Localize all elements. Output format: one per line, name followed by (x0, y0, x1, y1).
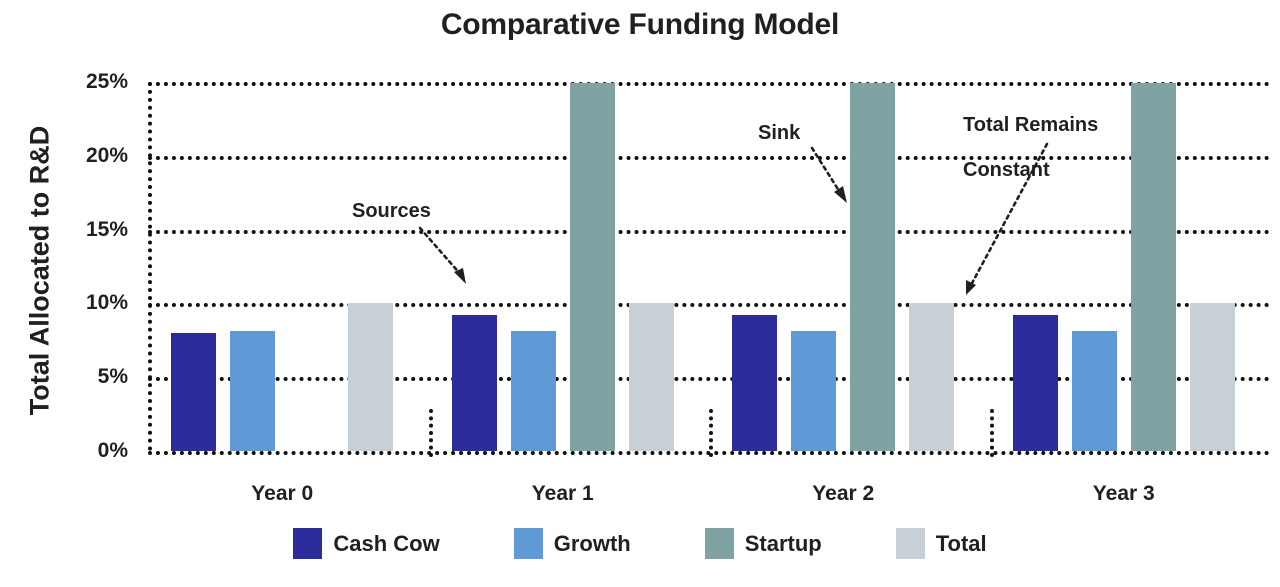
legend-swatch-icon (514, 528, 543, 559)
gridline (148, 82, 1270, 86)
y-axis-tick-label: 0% (58, 439, 128, 463)
y-axis-line (148, 82, 152, 451)
y-axis-tick-label: 20% (58, 144, 128, 168)
x-axis-tick-label: Year 1 (532, 482, 594, 506)
chart-container: Comparative Funding Model Total Allocate… (0, 0, 1280, 587)
annotation-total-remains-constant: Total Remains Constant (963, 92, 1098, 204)
group-separator (709, 409, 713, 457)
legend-label: Total (936, 531, 987, 557)
y-axis-tick-label: 15% (58, 218, 128, 242)
gridline (148, 303, 1270, 307)
group-separator (990, 409, 994, 457)
annotation-sources: Sources (352, 200, 431, 222)
bar-cash-cow-year-0 (171, 333, 216, 451)
bar-growth-year-0 (230, 331, 275, 451)
legend-swatch-icon (293, 528, 322, 559)
legend-item-growth[interactable]: Growth (514, 528, 631, 559)
legend-label: Cash Cow (333, 531, 439, 557)
annotation-line-2: Constant (963, 159, 1098, 181)
gridline (148, 156, 1270, 160)
legend-item-cash-cow[interactable]: Cash Cow (293, 528, 439, 559)
bar-startup-year-2 (850, 83, 895, 451)
bar-growth-year-3 (1072, 331, 1117, 451)
annotation-line-1: Total Remains (963, 114, 1098, 136)
bar-cash-cow-year-1 (452, 315, 497, 451)
y-axis-tick-label: 25% (58, 70, 128, 94)
bar-total-year-3 (1190, 303, 1235, 451)
legend-item-startup[interactable]: Startup (705, 528, 822, 559)
bar-startup-year-3 (1131, 83, 1176, 451)
y-axis-title: Total Allocated to R&D (25, 51, 56, 491)
gridline (148, 230, 1270, 234)
legend-label: Growth (554, 531, 631, 557)
legend-label: Startup (745, 531, 822, 557)
x-axis-tick-label: Year 2 (812, 482, 874, 506)
bar-growth-year-2 (791, 331, 836, 451)
x-axis-tick-label: Year 0 (251, 482, 313, 506)
bar-total-year-1 (629, 303, 674, 451)
group-separator (429, 409, 433, 457)
y-axis-tick-label: 5% (58, 365, 128, 389)
legend-swatch-icon (896, 528, 925, 559)
bar-total-year-2 (909, 303, 954, 451)
chart-title: Comparative Funding Model (0, 8, 1280, 42)
bar-growth-year-1 (511, 331, 556, 451)
bar-cash-cow-year-2 (732, 315, 777, 451)
x-axis-tick-label: Year 3 (1093, 482, 1155, 506)
bar-startup-year-1 (570, 83, 615, 451)
annotation-sink: Sink (758, 122, 800, 144)
bar-cash-cow-year-3 (1013, 315, 1058, 451)
chart-legend: Cash CowGrowthStartupTotal (0, 528, 1280, 559)
legend-item-total[interactable]: Total (896, 528, 987, 559)
legend-swatch-icon (705, 528, 734, 559)
y-axis-tick-label: 10% (58, 291, 128, 315)
bar-total-year-0 (348, 303, 393, 451)
plot-area: 0%5%10%15%20%25%Year 0Year 1Year 2Year 3 (148, 82, 1270, 451)
